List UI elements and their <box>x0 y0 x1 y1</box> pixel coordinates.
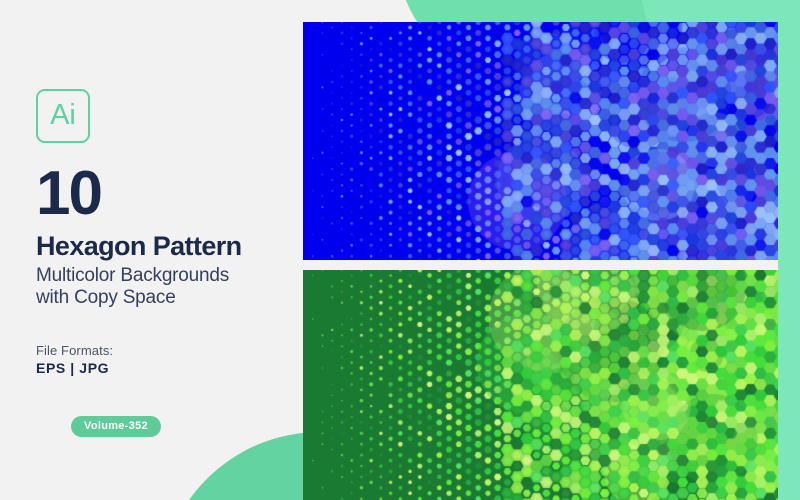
headline-title: Hexagon Pattern <box>36 232 242 260</box>
green-hexagon-preview <box>303 270 778 500</box>
poster-canvas: Ai 10 Hexagon Pattern Multicolor Backgro… <box>0 0 800 500</box>
headline-subtitle: Multicolor Backgroundswith Copy Space <box>36 265 229 310</box>
ai-logo: Ai <box>36 89 90 143</box>
decor-band-right <box>778 0 800 500</box>
file-formats-label: File Formats: <box>36 343 113 358</box>
ai-logo-label: Ai <box>50 101 76 130</box>
green-hexagon-canvas <box>303 270 778 500</box>
info-column: Ai 10 Hexagon Pattern Multicolor Backgro… <box>36 0 296 500</box>
blue-hexagon-canvas <box>303 22 778 260</box>
blue-hexagon-preview <box>303 22 778 260</box>
file-formats-value: EPS | JPG <box>36 360 109 376</box>
status-badge: Volume-352 <box>71 416 161 437</box>
page-title: 10 <box>36 163 101 225</box>
